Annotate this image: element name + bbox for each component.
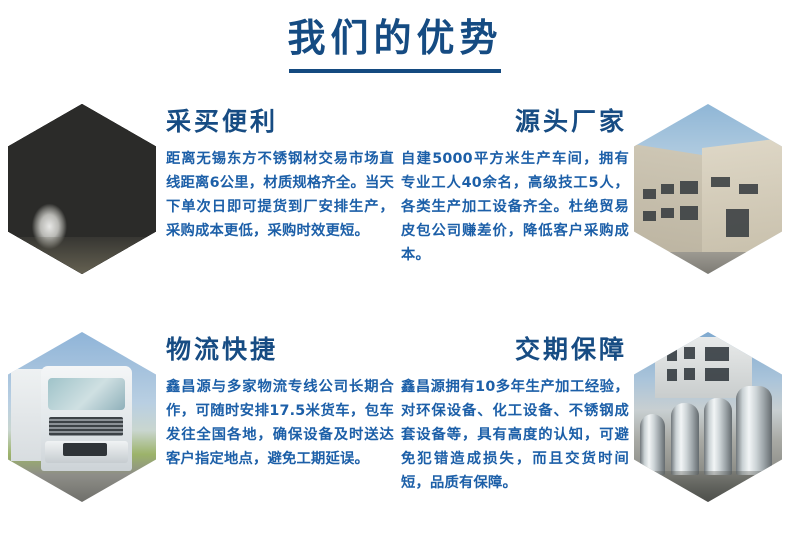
feature-body: 自建5000平方米生产车间，拥有专业工人40余名，高级技工5人，各类生产加工设备…	[401, 147, 629, 267]
truck-windshield	[48, 378, 125, 410]
factory-window	[680, 206, 698, 220]
factory-window	[680, 181, 698, 195]
truck-bumper-inset	[63, 443, 107, 457]
feature-card-fast-logistics: 物流快捷 鑫昌源与多家物流专线公司长期合作，可随时安排17.5米货车，包车发往全…	[0, 320, 395, 548]
factory-window	[643, 189, 656, 199]
feature-body: 鑫昌源拥有10多年生产加工经验，对环保设备、化工设备、不锈钢成套设备等，具有高度…	[401, 375, 629, 495]
title-underline	[289, 69, 501, 73]
stainless-tank	[640, 414, 665, 475]
factory-right-facade	[702, 138, 782, 260]
truck-grille	[49, 417, 123, 436]
factory-building-photo	[634, 104, 782, 274]
feature-card-purchase-convenience: 采买便利 距离无锡东方不锈钢材交易市场直线距离6公里，材质规格齐全。当天下单次日…	[0, 92, 395, 320]
factory-left-facade	[634, 144, 702, 260]
factory-window	[661, 184, 674, 194]
tanks-background-building	[655, 337, 753, 398]
factory-window	[661, 208, 674, 218]
feature-grid: 采买便利 距离无锡东方不锈钢材交易市场直线距离6公里，材质规格齐全。当天下单次日…	[0, 92, 790, 548]
delivery-truck-photo	[8, 332, 156, 502]
feature-text-block: 物流快捷 鑫昌源与多家物流专线公司长期合作，可随时安排17.5米货车，包车发往全…	[166, 334, 394, 471]
feature-body: 鑫昌源与多家物流专线公司长期合作，可随时安排17.5米货车，包车发往全国各地，确…	[166, 375, 394, 471]
factory-window	[739, 184, 758, 194]
factory-window	[643, 211, 656, 221]
feature-heading: 采买便利	[166, 106, 394, 138]
feature-heading: 物流快捷	[166, 334, 394, 366]
steel-coils-photo	[8, 104, 156, 274]
tanks-building-window	[705, 368, 729, 382]
stainless-tank	[671, 403, 699, 474]
tanks-ground-shadow	[634, 471, 782, 502]
feature-card-source-manufacturer: 源头厂家 自建5000平方米生产车间，拥有专业工人40余名，高级技工5人，各类生…	[395, 92, 790, 320]
feature-text-block: 源头厂家 自建5000平方米生产车间，拥有专业工人40余名，高级技工5人，各类生…	[401, 106, 629, 267]
stainless-tank	[704, 398, 732, 475]
feature-text-block: 交期保障 鑫昌源拥有10多年生产加工经验，对环保设备、化工设备、不锈钢成套设备等…	[401, 334, 629, 495]
tanks-building-window	[667, 369, 677, 381]
feature-body: 距离无锡东方不锈钢材交易市场直线距离6公里，材质规格齐全。当天下单次日即可提货到…	[166, 147, 394, 243]
stainless-tanks-photo	[634, 332, 782, 502]
stainless-tank	[736, 386, 772, 474]
tanks-building-window	[705, 347, 729, 361]
tanks-building-window	[684, 347, 694, 359]
factory-entrance	[726, 209, 750, 236]
page-title: 我们的优势	[0, 14, 790, 62]
tanks-building-window	[667, 349, 677, 361]
feature-card-delivery-guarantee: 交期保障 鑫昌源拥有10多年生产加工经验，对环保设备、化工设备、不锈钢成套设备等…	[395, 320, 790, 548]
feature-text-block: 采买便利 距离无锡东方不锈钢材交易市场直线距离6公里，材质规格齐全。当天下单次日…	[166, 106, 394, 243]
tanks-building-window	[684, 368, 694, 380]
feature-heading: 源头厂家	[401, 106, 629, 138]
factory-window	[711, 177, 730, 187]
page-title-block: 我们的优势	[0, 14, 790, 73]
feature-heading: 交期保障	[401, 334, 629, 366]
factory-ground	[634, 252, 782, 274]
